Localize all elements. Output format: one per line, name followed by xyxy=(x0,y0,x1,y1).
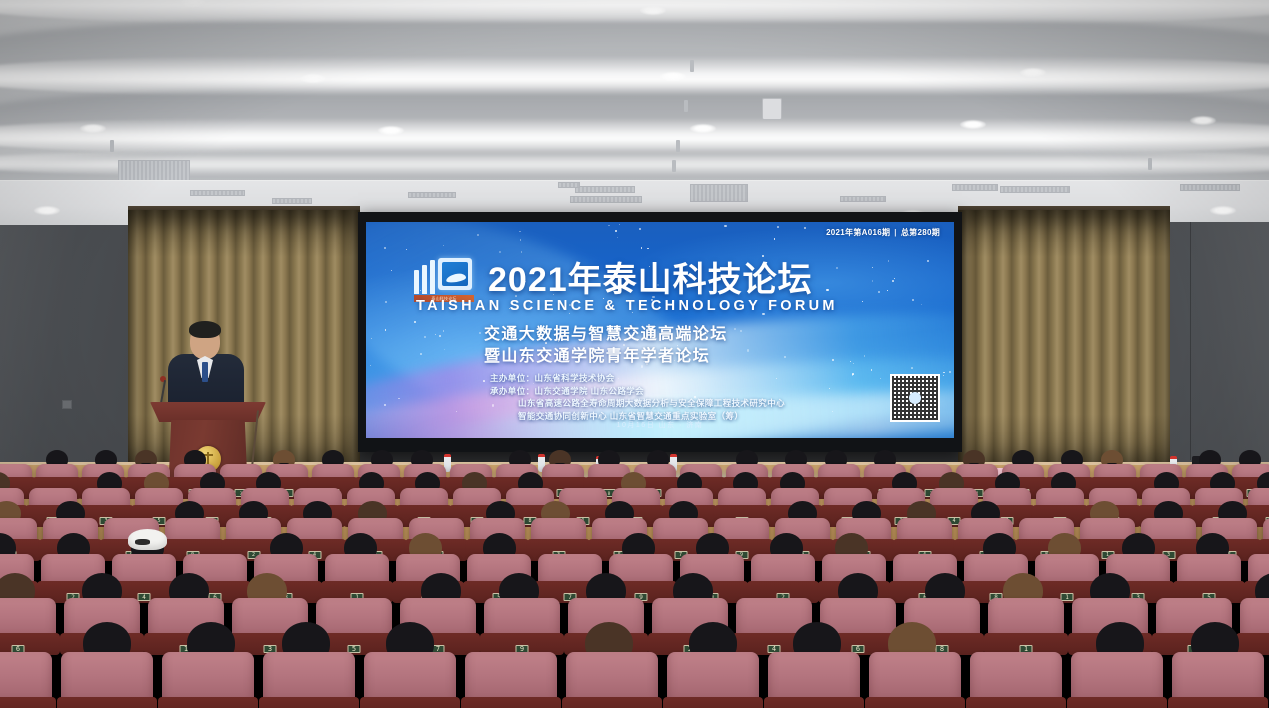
star-particle xyxy=(927,260,928,261)
ceiling-downlight xyxy=(80,124,106,133)
auditorium-seat[interactable]: 2 xyxy=(465,652,557,708)
ceiling-downlight xyxy=(690,124,716,133)
star-particle xyxy=(647,248,648,249)
star-particle xyxy=(747,349,749,351)
led-display-screen: 2021年第A016期|总第280期 泰山科技论坛 2021年泰山科技论坛 TA… xyxy=(366,222,954,438)
ceiling-air-vent xyxy=(1000,186,1070,193)
star-particle xyxy=(804,227,806,229)
star-particle xyxy=(521,251,523,253)
ceiling-downlight xyxy=(1210,206,1236,215)
star-particle xyxy=(826,289,828,291)
star-particle xyxy=(443,245,444,246)
forum-logo-icon: 泰山科技论坛 xyxy=(414,258,478,302)
star-particle xyxy=(424,336,426,338)
star-particle xyxy=(391,270,392,271)
star-particle xyxy=(499,251,501,253)
seat-number-plaque: 1 xyxy=(1061,593,1074,601)
star-particle xyxy=(619,224,620,225)
auditorium-seat[interactable]: 7 xyxy=(162,652,254,708)
star-particle xyxy=(829,388,830,389)
star-particle xyxy=(832,359,834,361)
organizer-line: 山东省高速公路全寿命周期大数据分析与安全保障工程技术研究中心 xyxy=(490,397,785,410)
sprinkler-head xyxy=(690,60,694,72)
star-particle xyxy=(888,260,890,262)
star-particle xyxy=(892,280,894,282)
star-particle xyxy=(774,238,776,240)
star-particle xyxy=(871,369,872,370)
seat-frame xyxy=(764,697,864,708)
star-particle xyxy=(880,378,881,379)
ceiling-downlight xyxy=(960,120,986,129)
star-particle xyxy=(414,321,416,323)
stage-curtain-right xyxy=(958,210,1170,472)
seat-frame xyxy=(1067,697,1167,708)
issue-number: 2021年第A016期 xyxy=(826,228,890,237)
star-particle xyxy=(784,356,786,358)
ceiling-air-vent xyxy=(952,184,998,191)
auditorium-seat[interactable]: 3 xyxy=(531,518,586,552)
auditorium-seat[interactable]: 7 xyxy=(1263,518,1269,552)
screen-organizer-list: 主办单位：山东省科学技术协会承办单位：山东交通学院 山东公路学会山东省高速公路全… xyxy=(490,372,785,422)
issue-total: 总第280期 xyxy=(901,228,940,237)
logo-mountain-icon xyxy=(438,258,472,290)
star-particle xyxy=(420,353,422,355)
star-particle xyxy=(406,249,407,250)
star-particle xyxy=(608,225,610,227)
star-particle xyxy=(864,355,866,357)
star-particle xyxy=(912,299,914,301)
ceiling-air-vent xyxy=(840,196,886,202)
star-particle xyxy=(439,335,441,337)
seat-frame xyxy=(360,697,460,708)
issue-separator: | xyxy=(894,228,897,237)
ceiling-downlight xyxy=(1020,68,1046,77)
star-particle xyxy=(519,231,520,232)
ceiling-downlight xyxy=(660,72,686,81)
sprinkler-head xyxy=(672,160,676,172)
seat-frame xyxy=(663,697,763,708)
ceiling-air-vent xyxy=(1180,184,1240,191)
ceiling-projector-housing xyxy=(762,98,782,120)
auditorium-seat[interactable]: 3 xyxy=(970,652,1062,708)
auditorium-seat[interactable]: 6 xyxy=(667,652,759,708)
wall-seam xyxy=(1190,222,1191,460)
auditorium-seat[interactable]: 2 xyxy=(751,554,815,594)
auditorium-seat[interactable]: 4 xyxy=(400,488,448,518)
screen-title-row: 泰山科技论坛 2021年泰山科技论坛 xyxy=(414,258,813,302)
auditorium-seat[interactable]: 7 xyxy=(1248,488,1269,518)
sprinkler-head xyxy=(684,100,688,112)
star-particle xyxy=(483,380,485,382)
auditorium-seat[interactable]: 5 xyxy=(1071,652,1163,708)
star-particle xyxy=(894,278,895,279)
auditorium-seat[interactable]: 7 xyxy=(1240,598,1269,646)
star-particle xyxy=(479,332,481,334)
ceiling-air-vent xyxy=(272,198,312,204)
auditorium-seat[interactable]: 3 xyxy=(0,652,52,708)
auditorium-seat[interactable]: 1 xyxy=(988,598,1064,646)
star-particle xyxy=(921,304,922,305)
qr-code-icon xyxy=(890,374,940,422)
auditorium-seat[interactable]: 4 xyxy=(36,464,78,490)
speaker-hair xyxy=(189,321,221,338)
ceiling xyxy=(0,0,1269,232)
auditorium-seat[interactable]: 9 xyxy=(263,652,355,708)
auditorium-seat[interactable]: 3 xyxy=(82,488,130,518)
star-particle xyxy=(852,373,854,375)
seat-frame xyxy=(562,697,662,708)
seat-frame xyxy=(461,697,561,708)
white-baseball-cap xyxy=(128,529,167,550)
auditorium-seat[interactable]: 4 xyxy=(897,518,952,552)
seat-frame xyxy=(1168,697,1268,708)
auditorium-seat[interactable]: 0 xyxy=(165,518,220,552)
ceiling-downlight xyxy=(300,74,326,83)
logo-bars-icon xyxy=(414,260,435,294)
wall-outlet-plate xyxy=(62,400,72,409)
ceiling-air-vent xyxy=(558,182,580,188)
microphone-stem xyxy=(160,380,166,404)
auditorium-seat[interactable]: 1 xyxy=(325,554,389,594)
forum-title-cn: 2021年泰山科技论坛 xyxy=(488,263,813,297)
star-particle xyxy=(639,228,641,230)
ceiling-downlight xyxy=(1190,116,1216,125)
star-particle xyxy=(949,371,951,373)
sprinkler-head xyxy=(1148,158,1152,170)
star-particle xyxy=(444,349,445,350)
organizer-line: 主办单位：山东省科学技术协会 xyxy=(490,372,785,385)
ceiling-downlight xyxy=(34,206,60,215)
star-particle xyxy=(734,328,736,330)
star-particle xyxy=(520,239,521,240)
seat-frame xyxy=(966,697,1066,708)
auditorium-seat[interactable]: 9 xyxy=(484,598,560,646)
auditorium-seat[interactable]: 0 xyxy=(364,652,456,708)
ceiling-light-band xyxy=(0,150,1269,176)
star-particle xyxy=(456,411,457,412)
star-particle xyxy=(862,301,863,302)
auditorium-seat[interactable]: 1 xyxy=(869,652,961,708)
star-particle xyxy=(943,372,945,374)
star-particle xyxy=(398,398,399,399)
wall-panel-left xyxy=(0,225,132,470)
star-particle xyxy=(443,330,445,332)
ceiling-downlight xyxy=(640,6,666,15)
ceiling-air-vent xyxy=(575,186,635,193)
auditorium-seat[interactable]: 4 xyxy=(566,652,658,708)
seat-number-plaque: 4 xyxy=(138,593,151,601)
forum-subtitle-2: 暨山东交通学院青年学者论坛 xyxy=(484,342,710,366)
sprinkler-head xyxy=(110,140,114,152)
seat-frame xyxy=(865,697,965,708)
auditorium-seat[interactable]: 6 xyxy=(542,464,584,490)
star-particle xyxy=(836,267,838,269)
star-particle xyxy=(477,234,479,236)
star-particle xyxy=(777,226,779,228)
seat-frame xyxy=(57,697,157,708)
star-particle xyxy=(385,329,387,331)
star-particle xyxy=(762,255,764,257)
ceiling-air-vent xyxy=(408,192,456,198)
speaker-necktie xyxy=(202,362,208,382)
star-particle xyxy=(370,365,371,366)
star-particle xyxy=(853,363,855,365)
star-particle xyxy=(887,290,888,291)
star-particle xyxy=(384,404,385,405)
auditorium-seat[interactable]: 8 xyxy=(768,652,860,708)
star-particle xyxy=(872,267,873,268)
podium-top-surface xyxy=(150,402,266,422)
star-particle xyxy=(384,247,386,249)
star-particle xyxy=(878,291,880,293)
ceiling-air-vent xyxy=(690,184,748,202)
star-particle xyxy=(852,374,854,376)
auditorium-scene: 2021年第A016期|总第280期 泰山科技论坛 2021年泰山科技论坛 TA… xyxy=(0,0,1269,708)
auditorium-seat[interactable]: 7 xyxy=(718,488,766,518)
auditorium-seat[interactable]: 7 xyxy=(312,464,354,490)
ceiling-light-band xyxy=(0,118,1269,154)
auditorium-seat[interactable]: 6 xyxy=(0,598,56,646)
ceiling-light-band xyxy=(0,56,1269,96)
forum-title-en: TAISHAN SCIENCE & TECHNOLOGY FORUM xyxy=(416,298,838,314)
organizer-line: 承办单位：山东交通学院 山东公路学会 xyxy=(490,385,785,398)
auditorium-seat[interactable]: 7 xyxy=(1172,652,1264,708)
seat-frame xyxy=(158,697,258,708)
star-particle xyxy=(435,334,436,335)
ceiling-air-vent xyxy=(570,196,642,203)
auditorium-seat[interactable]: 1 xyxy=(1094,464,1136,490)
star-particle xyxy=(740,330,741,331)
seat-frame xyxy=(259,697,359,708)
auditorium-seat[interactable]: 5 xyxy=(1177,554,1241,594)
ceiling-downlight xyxy=(378,126,404,135)
star-particle xyxy=(832,411,833,412)
seat-frame xyxy=(0,697,56,708)
screen-issue-header: 2021年第A016期|总第280期 xyxy=(826,227,940,238)
led-display-bezel: 2021年第A016期|总第280期 泰山科技论坛 2021年泰山科技论坛 TA… xyxy=(358,212,962,452)
star-particle xyxy=(385,301,387,303)
sprinkler-head xyxy=(676,140,680,152)
star-particle xyxy=(872,280,874,282)
screen-footer-date-location: 10月16日 山东 · 济南 xyxy=(366,420,954,430)
star-particle xyxy=(371,338,372,339)
ceiling-air-vent xyxy=(190,190,245,196)
forum-subtitle-1: 交通大数据与智慧交通高端论坛 xyxy=(484,320,728,344)
auditorium-seat[interactable]: 9 xyxy=(818,464,860,490)
star-particle xyxy=(850,361,851,362)
star-particle xyxy=(617,237,618,238)
star-particle xyxy=(943,375,944,376)
star-particle xyxy=(615,230,617,232)
star-particle xyxy=(641,247,642,248)
auditorium-seat[interactable]: 5 xyxy=(61,652,153,708)
auditorium-seat[interactable]: 8 xyxy=(1036,488,1084,518)
star-particle xyxy=(911,367,913,369)
audience-seating: 2468135790246813579024681357981357902468… xyxy=(0,470,1269,708)
star-particle xyxy=(724,225,726,227)
ceiling-air-vent xyxy=(118,160,190,182)
